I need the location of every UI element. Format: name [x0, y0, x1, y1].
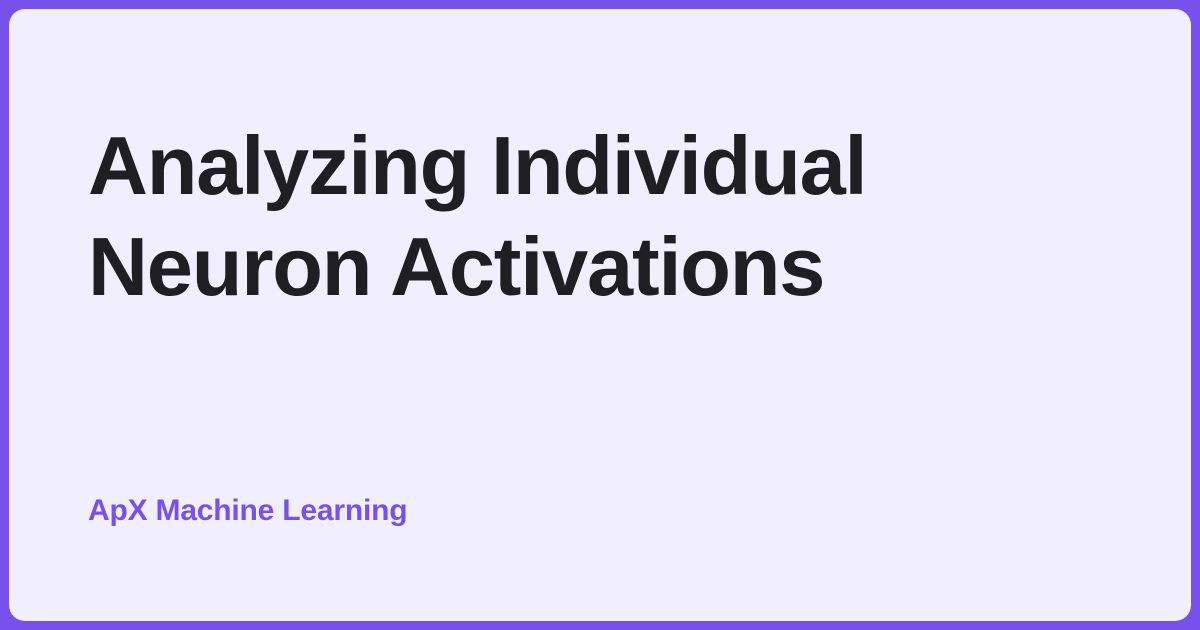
og-image-card: Analyzing Individual Neuron Activations … — [0, 0, 1200, 630]
title-block: Analyzing Individual Neuron Activations — [88, 115, 1131, 317]
card-surface: Analyzing Individual Neuron Activations … — [9, 9, 1191, 621]
page-title: Analyzing Individual Neuron Activations — [88, 115, 1131, 317]
brand-label: ApX Machine Learning — [88, 491, 1131, 531]
brand-block: ApX Machine Learning — [88, 491, 1131, 531]
card-content: Analyzing Individual Neuron Activations … — [88, 9, 1131, 621]
